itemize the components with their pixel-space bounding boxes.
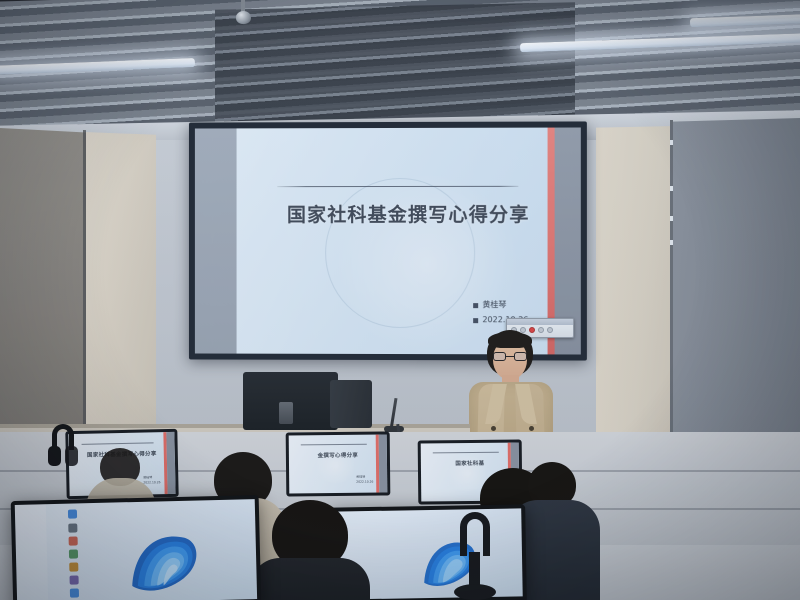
slide-presenter-row: 黄桂琴	[473, 299, 528, 314]
lectern-monitor-rear	[243, 372, 338, 430]
bullet-square-icon	[473, 318, 478, 323]
lectern-monitor-side	[330, 380, 372, 428]
dome-camera-icon	[236, 0, 250, 26]
right-wall-warm-panel	[596, 126, 676, 448]
audience-member	[250, 500, 370, 600]
desktop-icon-column[interactable]	[15, 504, 49, 600]
windows-bloom-wallpaper	[375, 521, 523, 600]
monitor-stand	[279, 402, 293, 424]
left-wall-gray-panel	[0, 128, 86, 463]
lecture-room-scene: 国家社科基金撰写心得分享 黄桂琴 2022.10.26	[0, 0, 800, 600]
mirrored-slide-title: 国家社科基	[421, 459, 519, 468]
lectern-mid-monitor[interactable]: 金撰写心得分享 黄桂琴 2022.10.26	[286, 431, 391, 496]
slide-title: 国家社科基金撰写心得分享	[237, 200, 581, 227]
left-wall-seam	[83, 130, 86, 455]
right-wall-gray-panel	[672, 118, 800, 452]
windows-desktop[interactable]	[15, 499, 257, 600]
left-wall-warm-panel	[84, 132, 156, 453]
mirrored-slide: 金撰写心得分享 黄桂琴 2022.10.26	[289, 434, 388, 493]
coat-button	[491, 426, 496, 431]
windows-bloom-wallpaper	[68, 513, 257, 600]
coat-button	[529, 426, 534, 431]
right-wall-seam	[670, 120, 673, 450]
mirrored-date: 2022.10.26	[356, 479, 373, 484]
presenter-fringe	[488, 332, 532, 348]
slide-presenter-name: 黄桂琴	[482, 299, 506, 314]
headphone-stand-icon	[452, 512, 498, 600]
projection-letterbox	[195, 128, 237, 353]
foreground-left-monitor[interactable]	[11, 495, 262, 600]
headset-icon	[48, 424, 78, 470]
bullet-square-icon	[473, 303, 478, 308]
glasses-icon	[493, 352, 527, 361]
mirrored-slide-title: 金撰写心得分享	[289, 451, 387, 460]
mirrored-slide-meta: 黄桂琴 2022.10.26	[356, 474, 373, 484]
